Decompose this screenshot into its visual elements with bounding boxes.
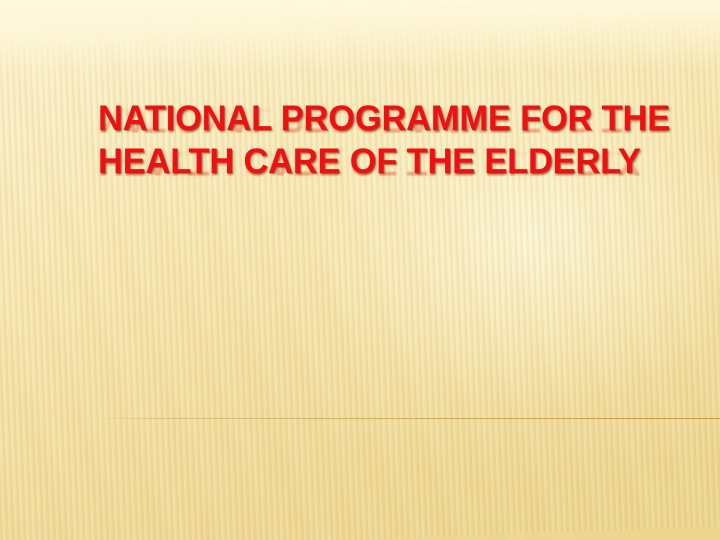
slide-title-line-1-text: NATIONAL PROGRAMME FOR THE: [98, 100, 670, 138]
presentation-slide: NATIONAL PROGRAMME FOR THE NATIONAL PROG…: [0, 0, 720, 540]
slide-title: NATIONAL PROGRAMME FOR THE NATIONAL PROG…: [98, 100, 658, 186]
slide-divider-line: [100, 418, 720, 419]
slide-title-line-2: HEALTH CARE OF THE ELDERLY HEALTH CARE O…: [98, 143, 658, 186]
slide-background-top-wash: [0, 0, 720, 540]
slide-title-line-2-text: HEALTH CARE OF THE ELDERLY: [98, 143, 641, 181]
slide-title-line-1: NATIONAL PROGRAMME FOR THE NATIONAL PROG…: [98, 100, 658, 143]
